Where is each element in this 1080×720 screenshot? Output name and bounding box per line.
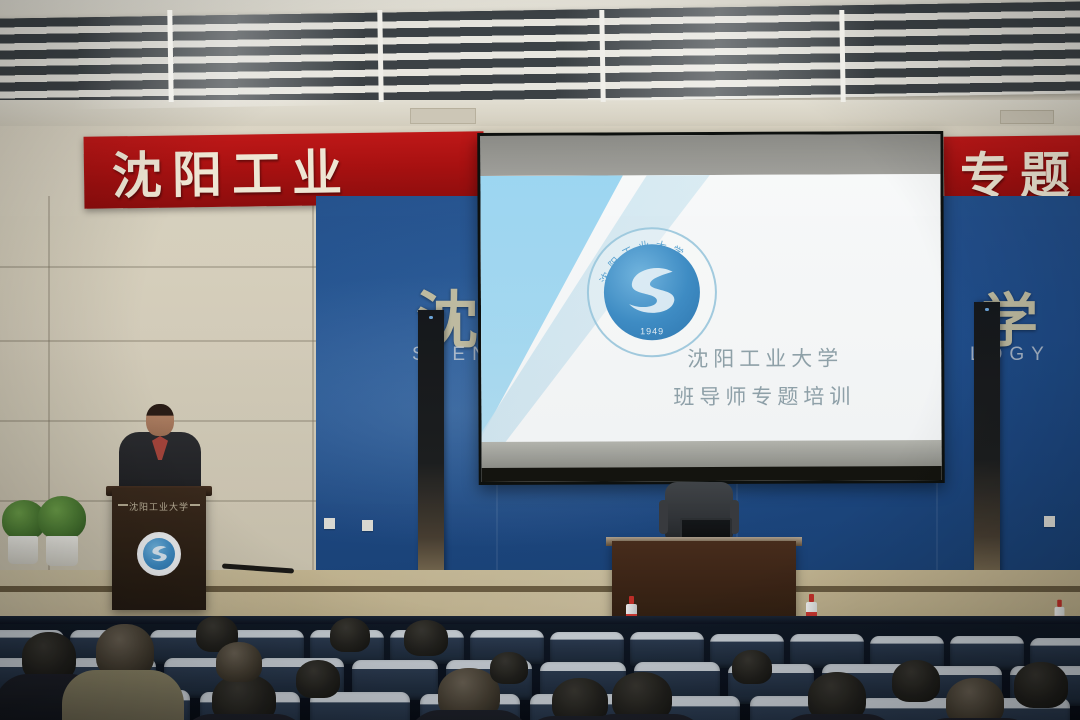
crest-s-monogram: [147, 541, 172, 567]
auditorium-seat[interactable]: [630, 632, 704, 666]
speaker-led-indicator: [985, 308, 989, 311]
audience-head: [404, 620, 448, 656]
bottle-cap: [1057, 600, 1062, 607]
podium-crest-icon: [137, 532, 181, 576]
audience-seating: [0, 616, 1080, 720]
speaker-podium: 沈阳工业大学: [112, 488, 206, 610]
audience-head: [296, 660, 340, 698]
plant-pot: [8, 536, 38, 564]
ceiling-vent: [1000, 110, 1054, 124]
wall-seam: [312, 196, 314, 586]
auditorium-seat[interactable]: [790, 634, 864, 668]
audience-head: [490, 652, 528, 684]
slide-top-shadow-band: [480, 134, 940, 176]
projection-screen[interactable]: 沈阳工业大学 1949 沈阳工业大学 班: [477, 131, 945, 485]
audience-head: [552, 678, 608, 720]
crest-s-monogram: [615, 253, 688, 331]
bottle-cap: [809, 594, 814, 602]
right-speaker-column: [974, 302, 1000, 588]
slide-bottom-shadow: [482, 466, 942, 482]
speaker-head: [146, 404, 174, 436]
audience-head: [946, 678, 1004, 720]
seating-front-edge: [0, 616, 1080, 624]
bottle-cap: [629, 596, 634, 604]
wall-seam: [0, 266, 316, 268]
potted-plant-foliage: [38, 496, 86, 540]
audience-head: [1014, 662, 1068, 708]
slide-title-line-2: 班导师专题培训: [673, 380, 855, 411]
audience-head: [732, 650, 772, 684]
ceiling-grille: [0, 1, 1080, 110]
wall-outlet[interactable]: [362, 520, 373, 531]
audience-head: [808, 672, 866, 720]
auditorium-photo-scene: 沈阳工业 专题 沈 SHEN 学 LOGY: [0, 0, 1080, 720]
ceiling-vent: [410, 108, 476, 124]
projected-slide: 沈阳工业大学 1949 沈阳工业大学 班: [480, 134, 942, 482]
podium-name-plate: 沈阳工业大学: [112, 500, 206, 513]
left-speaker-column: [418, 310, 444, 588]
slide-title-line-1: 沈阳工业大学: [687, 342, 843, 373]
wall-seam: [0, 340, 316, 342]
speaker-led-indicator: [429, 316, 433, 319]
audience-head: [216, 642, 262, 682]
audience-head: [892, 660, 940, 702]
chair-armrest: [659, 500, 668, 534]
wall-outlet[interactable]: [1044, 516, 1055, 527]
wall-outlet[interactable]: [324, 518, 335, 529]
audience-shoulders: [62, 670, 184, 720]
slide-content-area: 沈阳工业大学 1949 沈阳工业大学 班: [480, 174, 941, 448]
plant-pot: [46, 536, 78, 566]
crest-year: 1949: [587, 326, 717, 337]
audience-head: [330, 618, 370, 652]
auditorium-seat[interactable]: [550, 632, 624, 666]
auditorium-seat[interactable]: [950, 636, 1024, 670]
audience-head: [612, 672, 672, 720]
university-crest-icon: 沈阳工业大学 1949: [587, 227, 718, 358]
